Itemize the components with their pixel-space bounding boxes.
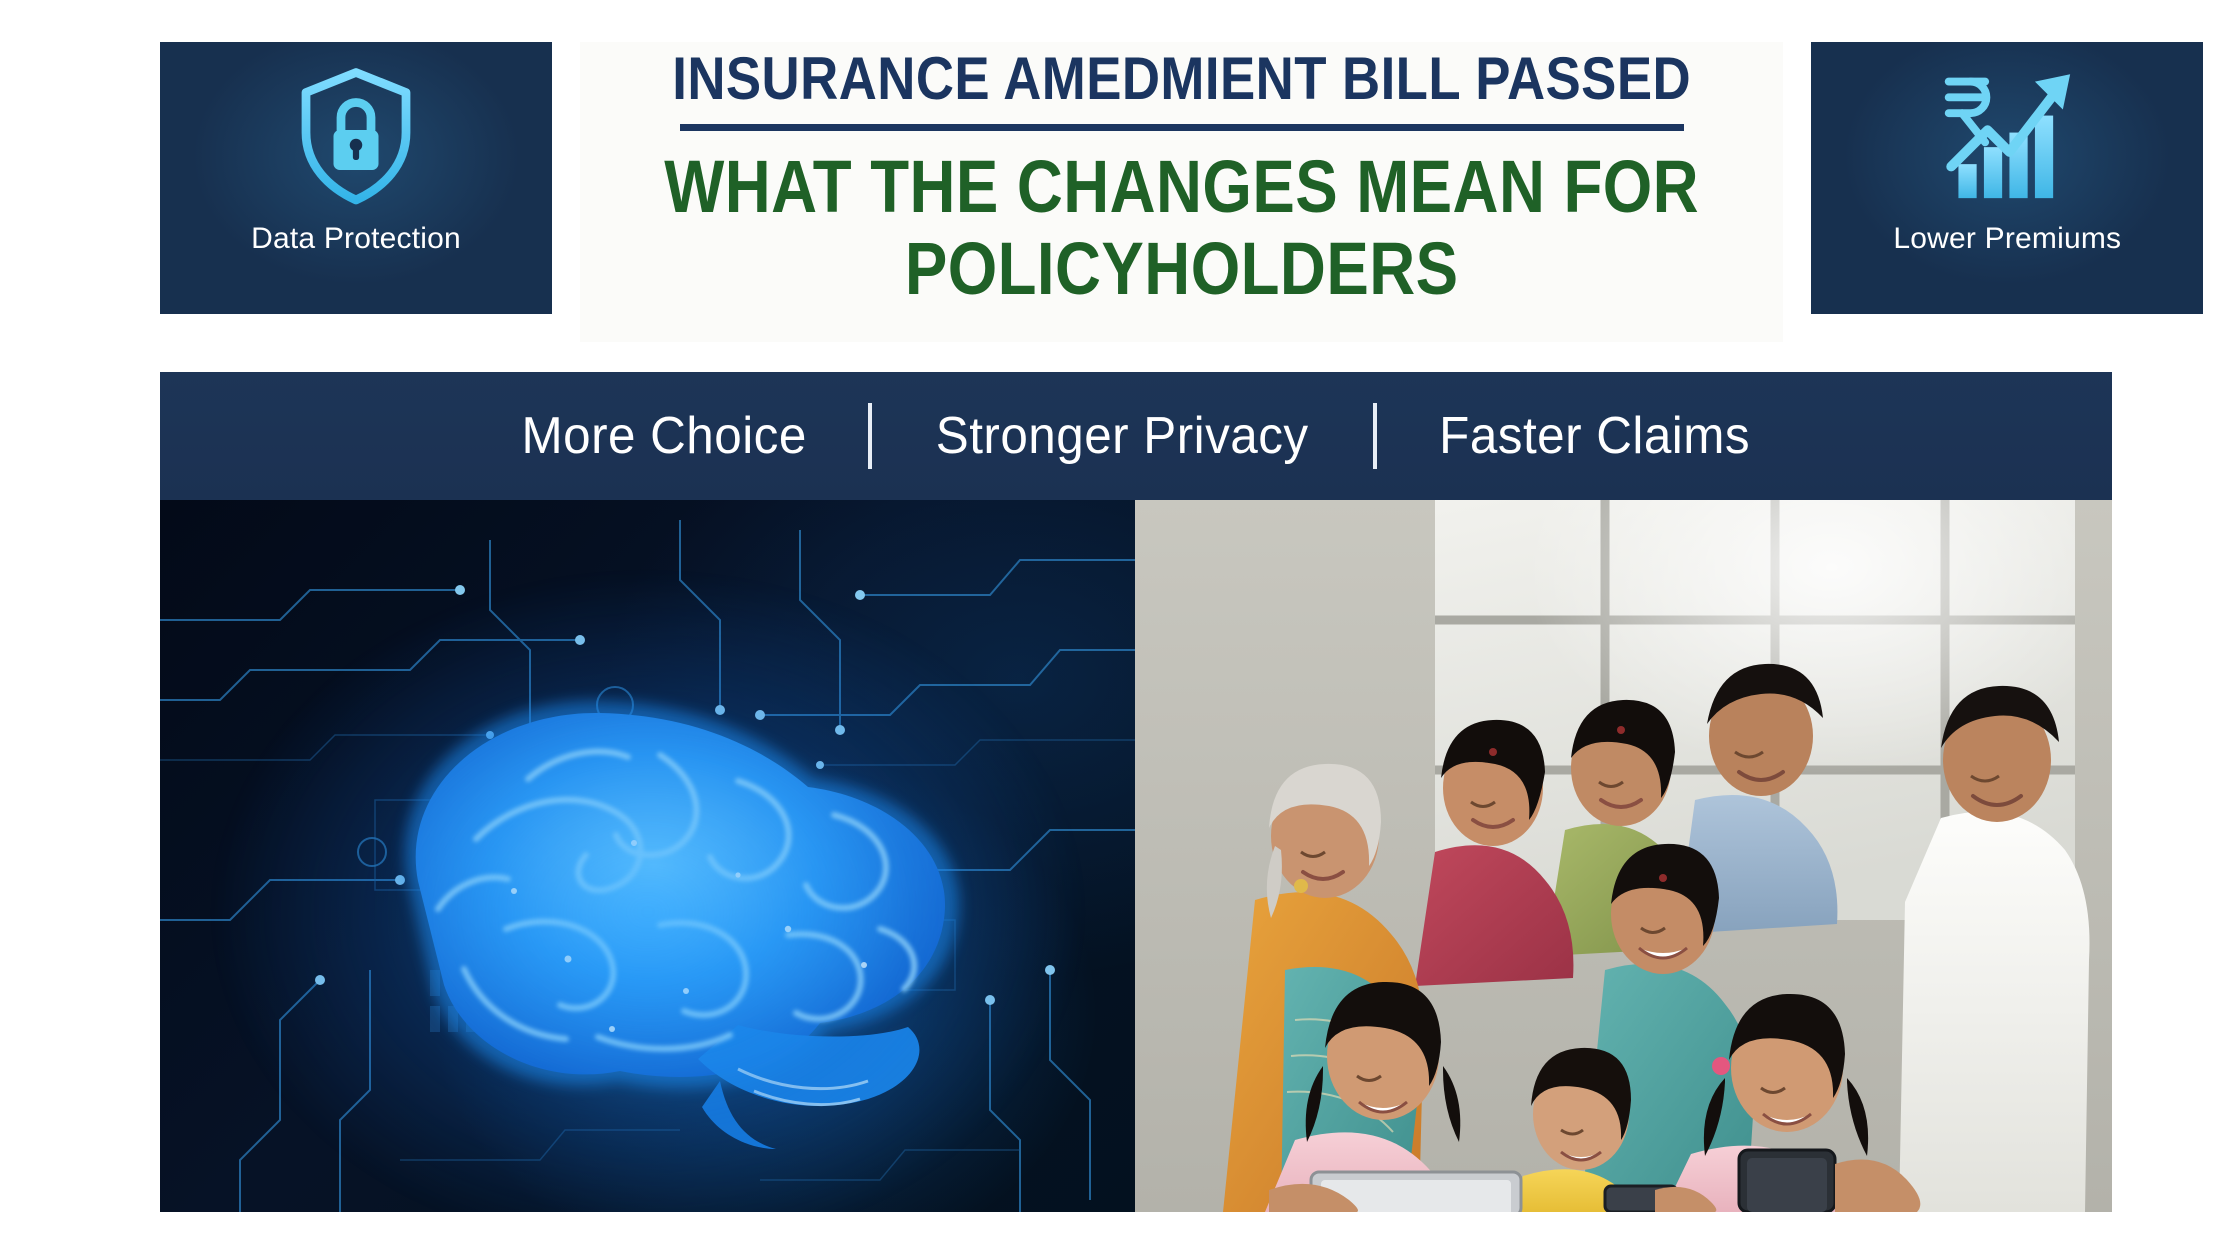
family-scene: [1135, 500, 2112, 1212]
headline-underline: [680, 124, 1684, 131]
headline-kicker: INSURANCE AMEDMIENT BILL PASSED: [652, 48, 1711, 110]
photo-row: [160, 500, 2112, 1212]
badge-data-protection: Data Protection: [160, 42, 552, 314]
glowing-brain-graphic: [268, 629, 1028, 1169]
badge-lower-premiums: Lower Premiums: [1811, 42, 2203, 314]
badge-right-label: Lower Premiums: [1893, 222, 2121, 256]
benefit-separator: [1373, 403, 1377, 469]
headline-block: INSURANCE AMEDMIENT BILL PASSED WHAT THE…: [580, 42, 1783, 342]
benefit-separator: [868, 403, 872, 469]
badge-left-label: Data Protection: [251, 222, 461, 256]
ai-brain-circuit-photo: [160, 500, 1135, 1212]
benefit-item-more-choice: More Choice: [522, 406, 807, 466]
brain-glow: [208, 569, 1088, 1212]
benefits-bar: More Choice Stronger Privacy Faster Clai…: [160, 372, 2112, 500]
headline-subhead-line2: POLICYHOLDERS: [664, 231, 1699, 306]
indian-family-devices-photo: [1135, 500, 2112, 1212]
smartphone-device-large: [1739, 1150, 1835, 1212]
infographic-poster: Data Protection INSURANCE AMEDMIENT BILL…: [0, 0, 2240, 1260]
benefit-item-faster-claims: Faster Claims: [1439, 406, 1750, 466]
rupee-growth-chart-icon: [1922, 60, 2092, 210]
headline-subhead-line1: WHAT THE CHANGES MEAN FOR: [664, 149, 1699, 224]
shield-lock-icon: [281, 60, 431, 210]
header-row: Data Protection INSURANCE AMEDMIENT BILL…: [160, 42, 2112, 342]
benefit-item-stronger-privacy: Stronger Privacy: [936, 406, 1309, 466]
